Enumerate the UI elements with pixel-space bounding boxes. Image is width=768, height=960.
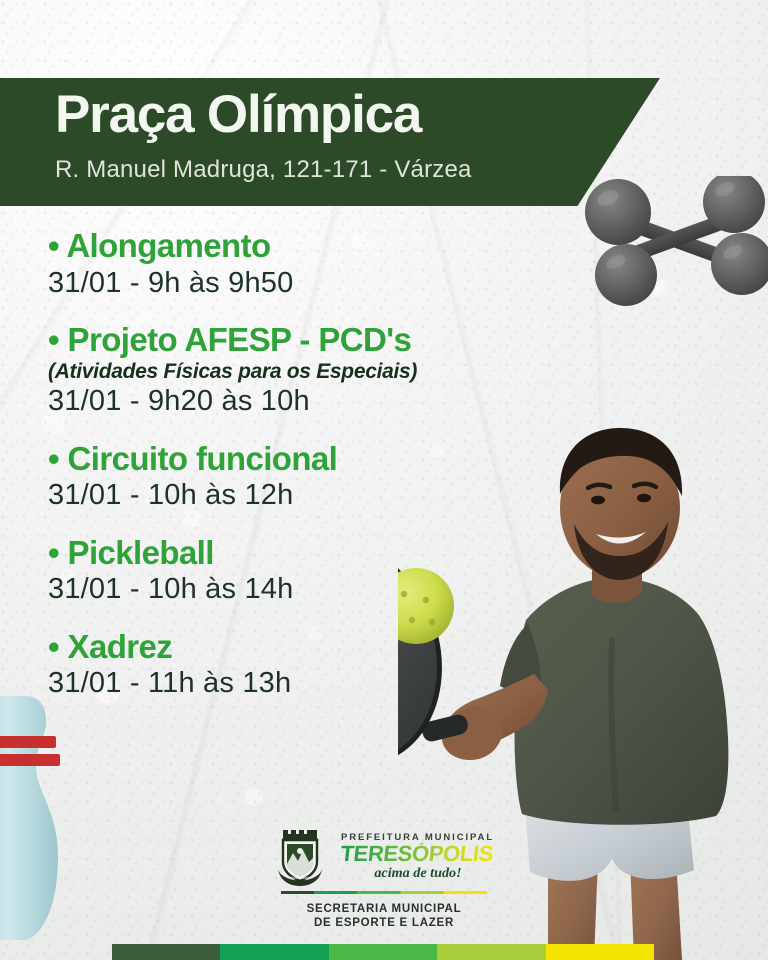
bullet-icon: • <box>48 628 59 665</box>
logo-divider-bar <box>281 891 487 894</box>
activity-title-text: Xadrez <box>68 628 173 665</box>
city-logo: PREFEITURA MUNICIPAL TERESÓPOLIS acima d… <box>271 828 498 886</box>
activity-subtitle: (Atividades Físicas para os Especiais) <box>48 360 568 384</box>
prefeitura-label: PREFEITURA MUNICIPAL <box>341 833 494 843</box>
footer-logo-block: PREFEITURA MUNICIPAL TERESÓPOLIS acima d… <box>0 828 768 929</box>
page-title: Praça Olímpica <box>55 88 421 141</box>
city-slogan-icon: acima de tudo! <box>348 864 488 881</box>
svg-text:acima de tudo!: acima de tudo! <box>374 865 461 881</box>
poster-canvas: Praça Olímpica R. Manuel Madruga, 121-17… <box>0 0 768 960</box>
svg-text:TERESÓPOLIS: TERESÓPOLIS <box>339 843 494 866</box>
bullet-icon: • <box>48 440 59 477</box>
activity-title: • Projeto AFESP - PCD's <box>48 322 568 359</box>
strip-segment-2 <box>220 944 328 960</box>
strip-segment-5 <box>546 944 654 960</box>
bullet-icon: • <box>48 321 59 358</box>
strip-segment-4 <box>437 944 545 960</box>
strip-segment-1 <box>112 944 220 960</box>
crossed-dumbbells-icon <box>574 176 768 306</box>
activity-title-text: Pickleball <box>68 534 214 571</box>
list-item: • Alongamento 31/01 - 9h às 9h50 <box>48 228 568 300</box>
bottom-color-strip <box>112 944 654 960</box>
bullet-icon: • <box>48 534 59 571</box>
department-line-1: SECRETARIA MUNICIPAL <box>307 903 462 915</box>
activity-title-text: Alongamento <box>66 227 270 264</box>
city-wordmark: PREFEITURA MUNICIPAL TERESÓPOLIS acima d… <box>338 833 498 882</box>
teresopolis-wordmark-icon: TERESÓPOLIS <box>338 843 498 866</box>
department-line-2: DE ESPORTE E LAZER <box>314 917 454 929</box>
activity-title-text: Projeto AFESP - PCD's <box>68 321 412 358</box>
activity-title-text: Circuito funcional <box>68 440 338 477</box>
strip-segment-3 <box>329 944 437 960</box>
bullet-icon: • <box>48 227 59 264</box>
activity-title: • Alongamento <box>48 228 568 265</box>
activity-time: 31/01 - 9h às 9h50 <box>48 267 568 300</box>
teresopolis-coat-of-arms-icon <box>271 828 329 886</box>
venue-address: R. Manuel Madruga, 121-171 - Várzea <box>55 158 472 182</box>
